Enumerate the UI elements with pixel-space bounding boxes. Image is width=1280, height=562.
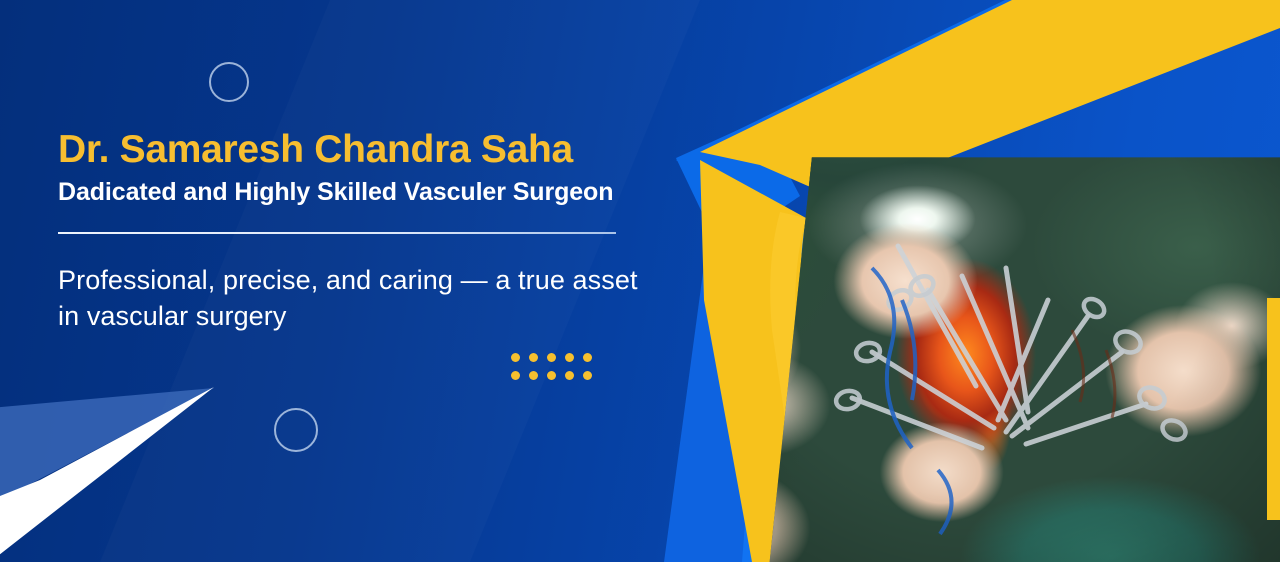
decorative-ring-bottom	[274, 408, 318, 452]
photo-vignette	[676, 0, 1280, 562]
doctor-profile-banner: Dr. Samaresh Chandra Saha Dadicated and …	[0, 0, 1280, 562]
decorative-ring-top	[209, 62, 249, 102]
photo-edge-yellow-bar	[1267, 298, 1280, 520]
swoosh-white-tail	[0, 452, 120, 562]
grid-dot	[529, 371, 538, 380]
grid-dot	[547, 353, 556, 362]
banner-tagline: Professional, precise, and caring — a tr…	[58, 263, 638, 335]
grid-dot	[547, 371, 556, 380]
grid-dot	[583, 371, 592, 380]
grid-dot	[565, 353, 574, 362]
photo-scene	[676, 0, 1280, 562]
divider-line	[58, 232, 616, 234]
surgery-photo	[676, 0, 1280, 562]
doctor-subtitle: Dadicated and Highly Skilled Vasculer Su…	[58, 176, 678, 209]
surgery-photo-container	[676, 0, 1280, 562]
grid-dot	[565, 371, 574, 380]
grid-dot	[529, 353, 538, 362]
grid-dot	[511, 353, 520, 362]
grid-dot	[511, 371, 520, 380]
doctor-name: Dr. Samaresh Chandra Saha	[58, 128, 678, 172]
swoosh-white	[0, 387, 214, 562]
dot-grid-decoration	[506, 348, 596, 384]
grid-dot	[583, 353, 592, 362]
swoosh-blue-wedge	[0, 388, 214, 505]
banner-copy: Dr. Samaresh Chandra Saha Dadicated and …	[58, 128, 678, 335]
